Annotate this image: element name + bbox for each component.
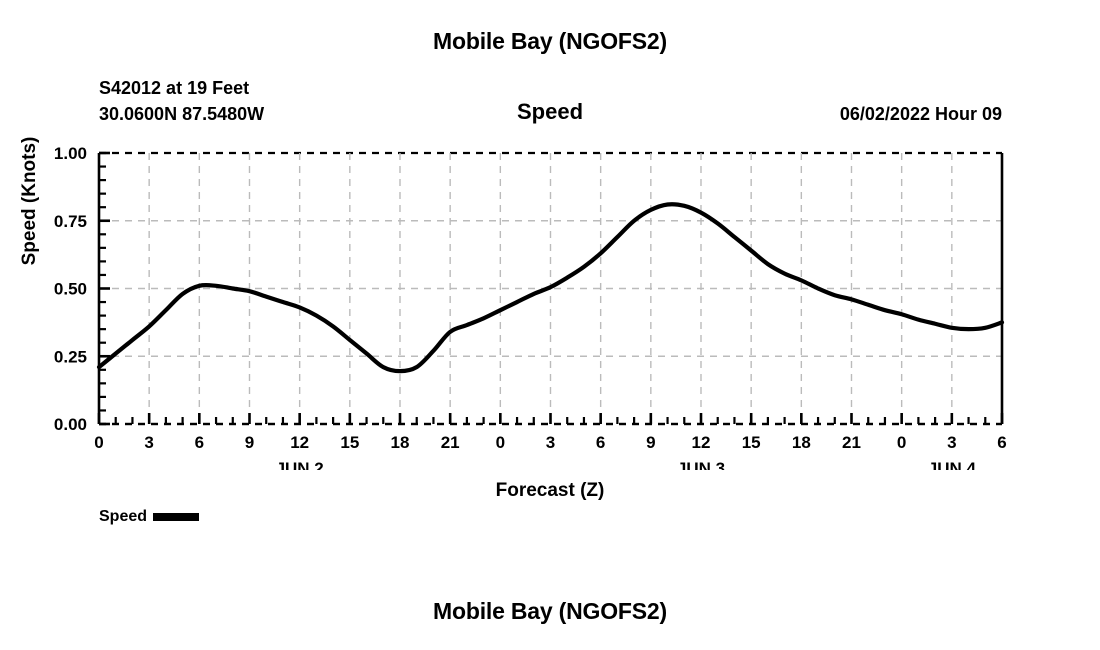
x-day-label: JUN 3 [677, 459, 725, 470]
x-tick-label: 12 [692, 433, 711, 452]
series-line-speed [99, 204, 1002, 371]
x-tick-label: 3 [144, 433, 153, 452]
x-day-label: JUN 2 [276, 459, 324, 470]
x-tick-label: 3 [546, 433, 555, 452]
x-tick-label: 0 [897, 433, 906, 452]
legend-label-speed: Speed [99, 508, 147, 526]
chart-page: Mobile Bay (NGOFS2) S42012 at 19 Feet 30… [0, 0, 1100, 650]
x-tick-label: 6 [195, 433, 204, 452]
x-tick-label: 18 [792, 433, 811, 452]
x-tick-label: 0 [94, 433, 103, 452]
y-tick-label: 1.00 [54, 144, 87, 163]
x-tick-label: 0 [496, 433, 505, 452]
x-tick-label: 6 [596, 433, 605, 452]
x-tick-label: 18 [391, 433, 410, 452]
x-tick-label: 9 [646, 433, 655, 452]
x-tick-label: 15 [742, 433, 761, 452]
x-tick-label: 3 [947, 433, 956, 452]
y-tick-label: 0.75 [54, 212, 87, 231]
x-axis-title: Forecast (Z) [0, 480, 1100, 502]
speed-line-chart: 0.000.250.500.751.0003691215182103691215… [0, 0, 1100, 470]
page-title-bottom: Mobile Bay (NGOFS2) [0, 598, 1100, 625]
y-tick-label: 0.50 [54, 280, 87, 299]
x-tick-label: 6 [997, 433, 1006, 452]
y-tick-label: 0.25 [54, 347, 87, 366]
x-tick-label: 21 [441, 433, 460, 452]
x-day-label: JUN 4 [928, 459, 977, 470]
legend-swatch-speed [153, 513, 199, 521]
x-tick-label: 21 [842, 433, 861, 452]
x-tick-label: 9 [245, 433, 254, 452]
chart-legend: Speed [99, 508, 199, 526]
x-tick-label: 12 [290, 433, 309, 452]
y-tick-label: 0.00 [54, 415, 87, 434]
x-tick-label: 15 [340, 433, 359, 452]
